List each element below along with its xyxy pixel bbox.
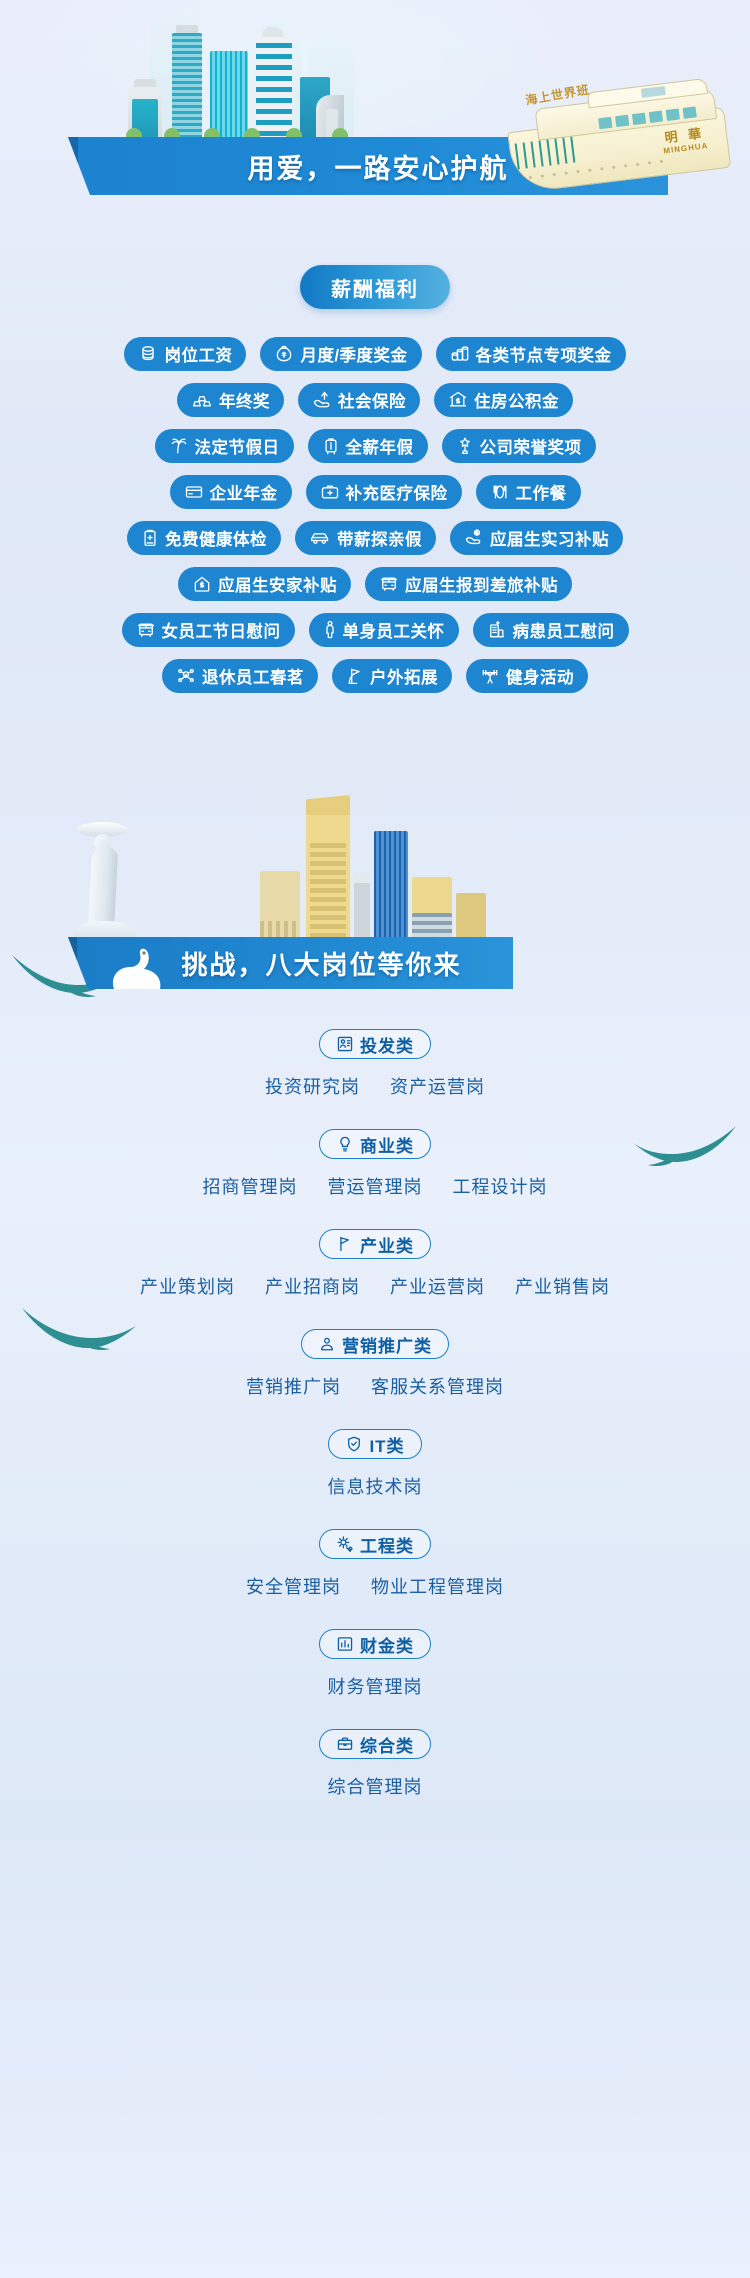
trophy-star-icon: [456, 436, 474, 456]
certificate-icon: [336, 1035, 354, 1053]
job-position[interactable]: 产业策划岗: [140, 1273, 235, 1299]
hero-banner-top: 用爱，一路安心护航 海上世界班 明 華 MINGHUA: [0, 0, 750, 195]
benefit-tag[interactable]: 月度/季度奖金: [260, 337, 421, 371]
card-icon: [184, 482, 204, 502]
job-position[interactable]: 投资研究岗: [265, 1073, 360, 1099]
benefit-tag-label: 户外拓展: [370, 664, 438, 688]
job-position[interactable]: 产业招商岗: [265, 1273, 360, 1299]
benefits-tag-row: 免费健康体检带薪探亲假应届生实习补贴: [19, 521, 731, 555]
benefit-tag[interactable]: 法定节假日: [155, 429, 294, 463]
benefit-tag-label: 应届生实习补贴: [490, 526, 609, 550]
bulb-icon: [336, 1135, 354, 1153]
benefit-tag[interactable]: 单身员工关怀: [309, 613, 459, 647]
swan-icon: [100, 945, 170, 993]
job-position[interactable]: 产业销售岗: [515, 1273, 610, 1299]
benefits-tag-row: 企业年金补充医疗保险工作餐: [19, 475, 731, 509]
job-position-list: 综合管理岗: [0, 1773, 750, 1799]
shield-it-icon: [345, 1435, 363, 1453]
suitcase-icon: [322, 436, 340, 456]
hero-banner-jobs: 挑战，八大岗位等你来: [0, 739, 750, 999]
benefit-tag-label: 公司荣誉奖项: [480, 434, 582, 458]
benefit-tag-label: 工作餐: [516, 480, 567, 504]
benefits-tag-row: 应届生安家补贴应届生报到差旅补贴: [19, 567, 731, 601]
medical-kit-icon: [320, 482, 340, 502]
benefit-tag[interactable]: 企业年金: [170, 475, 292, 509]
ship-nameplate: 明 華 MINGHUA: [661, 122, 709, 155]
bank-house-icon: [448, 390, 468, 410]
benefit-tag[interactable]: 补充医疗保险: [306, 475, 462, 509]
weightlifter-icon: [480, 666, 500, 686]
benefit-tag[interactable]: 社会保险: [298, 383, 420, 417]
job-group: 工程类安全管理岗物业工程管理岗: [0, 1529, 750, 1599]
job-group: 投发类投资研究岗资产运营岗: [0, 1029, 750, 1099]
benefits-tag-row: 年终奖社会保险住房公积金: [19, 383, 731, 417]
benefit-tag[interactable]: 免费健康体检: [127, 521, 281, 555]
house-dollar-icon: [192, 574, 212, 594]
job-position[interactable]: 招商管理岗: [203, 1173, 298, 1199]
benefit-tag-label: 补充医疗保险: [346, 480, 448, 504]
benefit-tag-label: 年终奖: [219, 388, 270, 412]
job-category-label: 产业类: [360, 1232, 414, 1257]
benefit-tag[interactable]: 全薪年假: [308, 429, 428, 463]
job-group: 综合类综合管理岗: [0, 1729, 750, 1799]
job-category-pill[interactable]: 营销推广类: [301, 1329, 449, 1359]
benefit-tag-label: 各类节点专项奖金: [476, 342, 612, 366]
job-position-list: 财务管理岗: [0, 1673, 750, 1699]
benefit-tag[interactable]: 工作餐: [476, 475, 581, 509]
benefit-tag[interactable]: 应届生实习补贴: [450, 521, 623, 555]
plate-cutlery-icon: [490, 482, 510, 502]
job-category-pill[interactable]: 财金类: [319, 1629, 431, 1659]
flag-icon: [336, 1235, 354, 1253]
job-position-list: 营销推广岗客服关系管理岗: [0, 1373, 750, 1399]
job-category-pill[interactable]: 工程类: [319, 1529, 431, 1559]
benefit-tag[interactable]: 健身活动: [466, 659, 588, 693]
benefit-tag-label: 退休员工春茗: [202, 664, 304, 688]
benefit-tag[interactable]: 户外拓展: [332, 659, 452, 693]
bird-icon-right: [630, 1120, 740, 1174]
benefit-tag-label: 企业年金: [210, 480, 278, 504]
job-position-list: 信息技术岗: [0, 1473, 750, 1499]
benefit-tag[interactable]: 女员工节日慰问: [122, 613, 295, 647]
bus-icon: [379, 574, 399, 594]
job-group: 财金类财务管理岗: [0, 1629, 750, 1699]
job-group: 产业类产业策划岗产业招商岗产业运营岗产业销售岗: [0, 1229, 750, 1299]
city-skyline-illustration-bottom: [250, 783, 510, 943]
car-icon: [309, 528, 331, 548]
bus-icon: [136, 620, 156, 640]
benefit-tag[interactable]: 带薪探亲假: [295, 521, 436, 555]
coin-columns-icon: [450, 344, 470, 364]
job-category-pill[interactable]: 综合类: [319, 1729, 431, 1759]
job-category-label: 综合类: [360, 1732, 414, 1757]
benefit-tag[interactable]: 病患员工慰问: [473, 613, 629, 647]
benefit-tag-label: 月度/季度奖金: [300, 342, 407, 366]
palm-tree-icon: [169, 436, 189, 456]
benefit-tag[interactable]: 退休员工春茗: [162, 659, 318, 693]
benefits-tag-row: 退休员工春茗户外拓展健身活动: [19, 659, 731, 693]
benefit-tag-label: 法定节假日: [195, 434, 280, 458]
benefit-tag-label: 社会保险: [338, 388, 406, 412]
benefit-tag[interactable]: 应届生报到差旅补贴: [365, 567, 572, 601]
gear-tools-icon: [336, 1535, 354, 1553]
job-position[interactable]: 工程设计岗: [453, 1173, 548, 1199]
job-category-pill[interactable]: 商业类: [319, 1129, 431, 1159]
benefit-tag-label: 带薪探亲假: [337, 526, 422, 550]
gold-bars-icon: [191, 390, 213, 410]
hospital-icon: [487, 620, 507, 640]
job-position[interactable]: 综合管理岗: [328, 1773, 423, 1799]
benefit-tag-label: 全薪年假: [346, 434, 414, 458]
job-position[interactable]: 信息技术岗: [328, 1473, 423, 1499]
job-category-label: 投发类: [360, 1032, 414, 1057]
job-position[interactable]: 营运管理岗: [328, 1173, 423, 1199]
benefits-tag-row: 女员工节日慰问单身员工关怀病患员工慰问: [19, 613, 731, 647]
job-category-pill[interactable]: 产业类: [319, 1229, 431, 1259]
benefit-tag[interactable]: 岗位工资: [124, 337, 246, 371]
money-bag-icon: [274, 344, 294, 364]
benefit-tag-label: 健身活动: [506, 664, 574, 688]
flag-mountain-icon: [346, 666, 364, 686]
benefit-tag[interactable]: 公司荣誉奖项: [442, 429, 596, 463]
job-category-label: 财金类: [360, 1632, 414, 1657]
city-skyline-illustration-top: [120, 0, 430, 155]
benefit-tag-label: 岗位工资: [164, 342, 232, 366]
benefit-tag-label: 免费健康体检: [165, 526, 267, 550]
benefit-tag-label: 病患员工慰问: [513, 618, 615, 642]
benefits-tag-row: 法定节假日全薪年假公司荣誉奖项: [19, 429, 731, 463]
job-position-list: 安全管理岗物业工程管理岗: [0, 1573, 750, 1599]
job-position-list: 产业策划岗产业招商岗产业运营岗产业销售岗: [0, 1273, 750, 1299]
job-group: IT类信息技术岗: [0, 1429, 750, 1499]
job-position[interactable]: 客服关系管理岗: [371, 1373, 504, 1399]
job-category-pill[interactable]: IT类: [328, 1429, 421, 1459]
job-category-label: IT类: [369, 1432, 404, 1457]
person-icon: [323, 620, 337, 640]
benefit-tag[interactable]: 住房公积金: [434, 383, 573, 417]
benefit-tag[interactable]: 应届生安家补贴: [178, 567, 351, 601]
job-category-label: 工程类: [360, 1532, 414, 1557]
benefits-tag-list: 岗位工资月度/季度奖金各类节点专项奖金年终奖社会保险住房公积金法定节假日全薪年假…: [19, 337, 731, 693]
bird-icon-lower-left: [18, 1300, 138, 1356]
benefit-tag-label: 住房公积金: [474, 388, 559, 412]
job-position[interactable]: 物业工程管理岗: [371, 1573, 504, 1599]
clipboard-health-icon: [141, 528, 159, 548]
job-position-list: 投资研究岗资产运营岗: [0, 1073, 750, 1099]
benefit-tag-label: 应届生安家补贴: [218, 572, 337, 596]
coins-stack-icon: [138, 344, 158, 364]
hand-shield-icon: [312, 390, 332, 410]
benefit-tag-label: 单身员工关怀: [343, 618, 445, 642]
job-category-pill[interactable]: 投发类: [319, 1029, 431, 1059]
chart-bars-icon: [336, 1635, 354, 1653]
job-position[interactable]: 安全管理岗: [246, 1573, 341, 1599]
job-position[interactable]: 产业运营岗: [390, 1273, 485, 1299]
job-position-list: 招商管理岗营运管理岗工程设计岗: [0, 1173, 750, 1199]
megaphone-person-icon: [318, 1335, 336, 1353]
job-position[interactable]: 资产运营岗: [390, 1073, 485, 1099]
job-position[interactable]: 营销推广岗: [246, 1373, 341, 1399]
benefit-tag[interactable]: 年终奖: [177, 383, 284, 417]
job-category-label: 营销推广类: [342, 1332, 432, 1357]
benefit-tag-label: 应届生报到差旅补贴: [405, 572, 558, 596]
briefcase-icon: [336, 1735, 354, 1753]
job-category-label: 商业类: [360, 1132, 414, 1157]
benefit-tag[interactable]: 各类节点专项奖金: [436, 337, 626, 371]
tea-molecule-icon: [176, 666, 196, 686]
hand-coin-icon: [464, 528, 484, 548]
benefits-tag-row: 岗位工资月度/季度奖金各类节点专项奖金: [19, 337, 731, 371]
benefit-tag-label: 女员工节日慰问: [162, 618, 281, 642]
job-position[interactable]: 财务管理岗: [328, 1673, 423, 1699]
section-title-benefits: 薪酬福利: [300, 265, 450, 309]
